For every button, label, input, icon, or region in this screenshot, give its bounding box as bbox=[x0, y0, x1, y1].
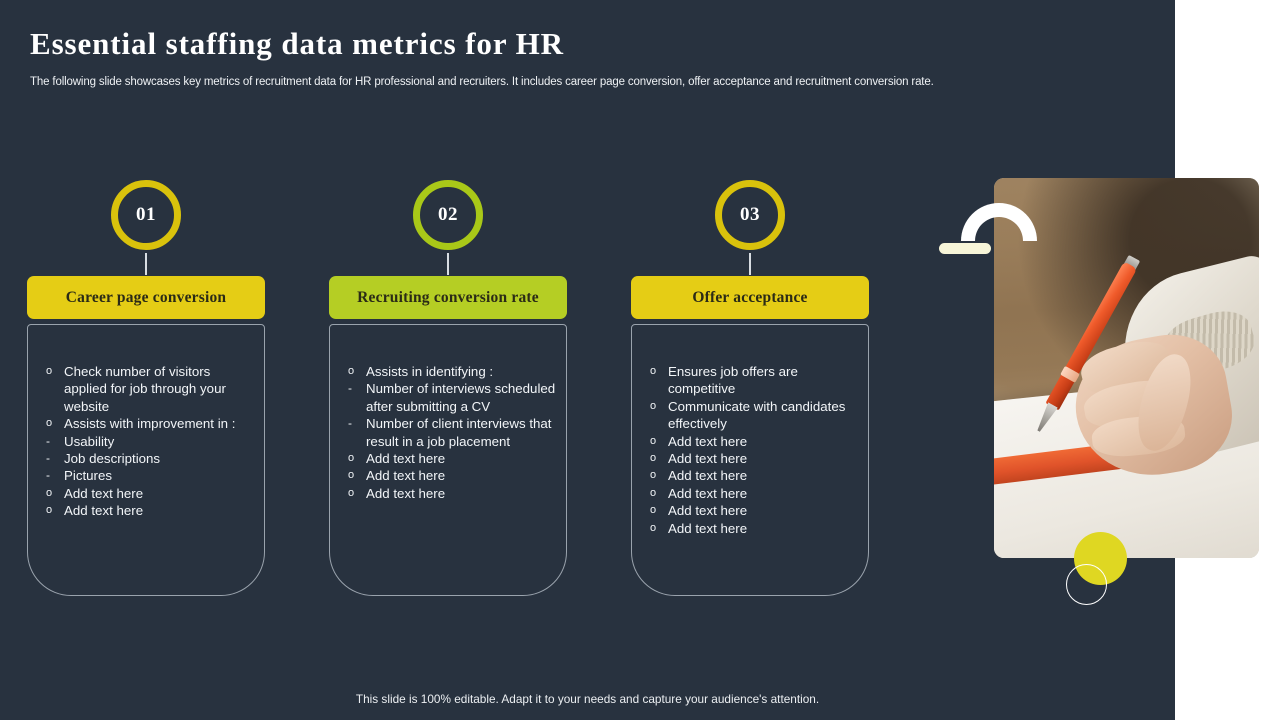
bullet-circle-icon: o bbox=[646, 398, 668, 415]
footer-note: This slide is 100% editable. Adapt it to… bbox=[0, 692, 1175, 706]
cream-pill-decoration bbox=[939, 243, 991, 254]
bullet-circle-icon: o bbox=[42, 415, 64, 432]
metric-body-box: oEnsures job offers are competitiveoComm… bbox=[631, 324, 869, 596]
metric-title-banner[interactable]: Career page conversion bbox=[27, 276, 265, 319]
list-item-text: Add text here bbox=[668, 433, 860, 450]
list-item-text: Communicate with candidates effectively bbox=[668, 398, 860, 433]
metric-title-label: Offer acceptance bbox=[692, 289, 807, 307]
list-item: oAssists with improvement in : bbox=[42, 415, 256, 432]
list-item-text: Add text here bbox=[668, 450, 860, 467]
step-number-badge: 01 bbox=[27, 175, 265, 255]
bullet-circle-icon: o bbox=[42, 485, 64, 502]
list-item-text: Assists in identifying : bbox=[366, 363, 558, 380]
list-item: -Number of client interviews that result… bbox=[344, 415, 558, 450]
bullet-circle-icon: o bbox=[344, 363, 366, 380]
bullet-list: oAssists in identifying :-Number of inte… bbox=[344, 363, 558, 502]
list-item-text: Check number of visitors applied for job… bbox=[64, 363, 256, 415]
metric-column-01: 01Career page conversionoCheck number of… bbox=[27, 175, 265, 596]
list-item: oAdd text here bbox=[646, 467, 860, 484]
bullet-dash-icon: - bbox=[344, 380, 366, 397]
connector-line bbox=[145, 253, 147, 275]
list-item-text: Add text here bbox=[668, 520, 860, 537]
bullet-circle-icon: o bbox=[646, 502, 668, 519]
bullet-list: oEnsures job offers are competitiveoComm… bbox=[646, 363, 860, 537]
list-item-text: Pictures bbox=[64, 467, 256, 484]
metric-column-03: 03Offer acceptanceoEnsures job offers ar… bbox=[631, 175, 869, 596]
metric-title-label: Recruiting conversion rate bbox=[357, 289, 539, 307]
metric-title-banner[interactable]: Recruiting conversion rate bbox=[329, 276, 567, 319]
list-item-text: Usability bbox=[64, 433, 256, 450]
list-item-text: Assists with improvement in : bbox=[64, 415, 256, 432]
bullet-dash-icon: - bbox=[42, 433, 64, 450]
list-item: oAdd text here bbox=[344, 485, 558, 502]
list-item: -Job descriptions bbox=[42, 450, 256, 467]
list-item-text: Add text here bbox=[668, 467, 860, 484]
list-item: -Usability bbox=[42, 433, 256, 450]
list-item: oAdd text here bbox=[646, 520, 860, 537]
step-number-badge: 02 bbox=[329, 175, 567, 255]
metric-title-label: Career page conversion bbox=[66, 289, 227, 307]
list-item-text: Add text here bbox=[668, 485, 860, 502]
bullet-circle-icon: o bbox=[42, 363, 64, 380]
bullet-circle-icon: o bbox=[646, 485, 668, 502]
bullet-dash-icon: - bbox=[42, 467, 64, 484]
step-number-circle: 02 bbox=[413, 180, 483, 250]
bullet-circle-icon: o bbox=[344, 467, 366, 484]
list-item: oAssists in identifying : bbox=[344, 363, 558, 380]
connector-line bbox=[447, 253, 449, 275]
bullet-dash-icon: - bbox=[42, 450, 64, 467]
bullet-circle-icon: o bbox=[42, 502, 64, 519]
list-item-text: Job descriptions bbox=[64, 450, 256, 467]
white-ring-decoration bbox=[1066, 564, 1107, 605]
bullet-circle-icon: o bbox=[646, 450, 668, 467]
list-item-text: Add text here bbox=[366, 450, 558, 467]
metric-body-box: oAssists in identifying :-Number of inte… bbox=[329, 324, 567, 596]
list-item: oEnsures job offers are competitive bbox=[646, 363, 860, 398]
list-item-text: Add text here bbox=[366, 485, 558, 502]
slide-canvas: Essential staffing data metrics for HR T… bbox=[0, 0, 1280, 720]
list-item-text: Ensures job offers are competitive bbox=[668, 363, 860, 398]
list-item-text: Add text here bbox=[64, 502, 256, 519]
bullet-circle-icon: o bbox=[344, 485, 366, 502]
step-number-text: 03 bbox=[740, 204, 760, 226]
list-item: oAdd text here bbox=[646, 433, 860, 450]
bullet-dash-icon: - bbox=[344, 415, 366, 432]
metric-columns: 01Career page conversionoCheck number of… bbox=[0, 175, 900, 595]
bullet-circle-icon: o bbox=[344, 450, 366, 467]
list-item-text: Number of client interviews that result … bbox=[366, 415, 558, 450]
page-title: Essential staffing data metrics for HR bbox=[30, 26, 1050, 62]
step-number-badge: 03 bbox=[631, 175, 869, 255]
list-item-text: Add text here bbox=[64, 485, 256, 502]
step-number-circle: 03 bbox=[715, 180, 785, 250]
metric-column-02: 02Recruiting conversion rateoAssists in … bbox=[329, 175, 567, 596]
list-item-text: Add text here bbox=[366, 467, 558, 484]
bullet-circle-icon: o bbox=[646, 363, 668, 380]
metric-body-box: oCheck number of visitors applied for jo… bbox=[27, 324, 265, 596]
metric-title-banner[interactable]: Offer acceptance bbox=[631, 276, 869, 319]
list-item: -Number of interviews scheduled after su… bbox=[344, 380, 558, 415]
bullet-circle-icon: o bbox=[646, 520, 668, 537]
bullet-circle-icon: o bbox=[646, 433, 668, 450]
connector-line bbox=[749, 253, 751, 275]
step-number-text: 02 bbox=[438, 204, 458, 226]
list-item: oCheck number of visitors applied for jo… bbox=[42, 363, 256, 415]
list-item: oAdd text here bbox=[42, 502, 256, 519]
list-item: oCommunicate with candidates effectively bbox=[646, 398, 860, 433]
list-item-text: Add text here bbox=[668, 502, 860, 519]
bullet-circle-icon: o bbox=[646, 467, 668, 484]
step-number-text: 01 bbox=[136, 204, 156, 226]
bullet-list: oCheck number of visitors applied for jo… bbox=[42, 363, 256, 520]
list-item: oAdd text here bbox=[42, 485, 256, 502]
page-subtitle: The following slide showcases key metric… bbox=[30, 76, 1050, 88]
list-item: oAdd text here bbox=[344, 467, 558, 484]
list-item: -Pictures bbox=[42, 467, 256, 484]
step-number-circle: 01 bbox=[111, 180, 181, 250]
list-item: oAdd text here bbox=[646, 502, 860, 519]
list-item-text: Number of interviews scheduled after sub… bbox=[366, 380, 558, 415]
slide-header: Essential staffing data metrics for HR T… bbox=[30, 26, 1050, 88]
list-item: oAdd text here bbox=[344, 450, 558, 467]
list-item: oAdd text here bbox=[646, 450, 860, 467]
list-item: oAdd text here bbox=[646, 485, 860, 502]
